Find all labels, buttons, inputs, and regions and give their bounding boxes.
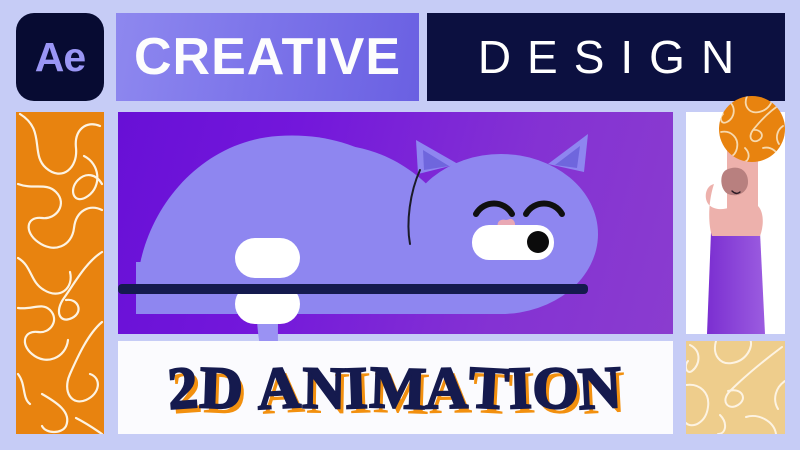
cat-shelf — [118, 284, 588, 294]
title-letter: I — [343, 357, 368, 418]
title-band: 2DANIMATION — [118, 341, 673, 434]
design-panel: DESIGN — [427, 13, 785, 101]
animation-title: 2DANIMATION — [118, 341, 673, 434]
title-letter: N — [302, 357, 346, 418]
poster-canvas: Ae CREATIVE DESIGN — [0, 0, 800, 450]
title-letter: A — [424, 357, 468, 418]
main-stage-panel — [118, 112, 673, 334]
design-title: DESIGN — [462, 34, 750, 80]
ball-squiggle-pattern-icon — [719, 96, 785, 162]
title-letter: A — [256, 356, 302, 418]
creative-panel: CREATIVE — [116, 13, 419, 101]
cat-illustration — [118, 112, 673, 334]
squiggle-pattern-icon — [16, 112, 104, 434]
title-letter: I — [507, 357, 532, 418]
title-letter: D — [199, 357, 244, 418]
cat-mouth-dot — [527, 231, 549, 253]
title-letter: N — [576, 356, 622, 418]
creative-title: CREATIVE — [134, 31, 401, 83]
orange-ball — [719, 96, 785, 162]
title-letter: T — [468, 357, 511, 419]
hand-thumb — [721, 168, 748, 196]
cat-paw-upper — [235, 238, 300, 278]
after-effects-logo[interactable]: Ae — [16, 13, 104, 101]
tan-pattern-card — [686, 341, 785, 434]
left-pattern-strip — [16, 112, 104, 434]
squiggle-pattern-icon — [686, 341, 785, 434]
after-effects-logo-label: Ae — [35, 37, 85, 78]
title-letter: M — [368, 357, 427, 419]
title-letter: O — [532, 357, 580, 418]
title-letter: 2 — [166, 357, 200, 419]
main-stage-clip — [118, 112, 673, 334]
hand-sleeve — [707, 232, 765, 334]
